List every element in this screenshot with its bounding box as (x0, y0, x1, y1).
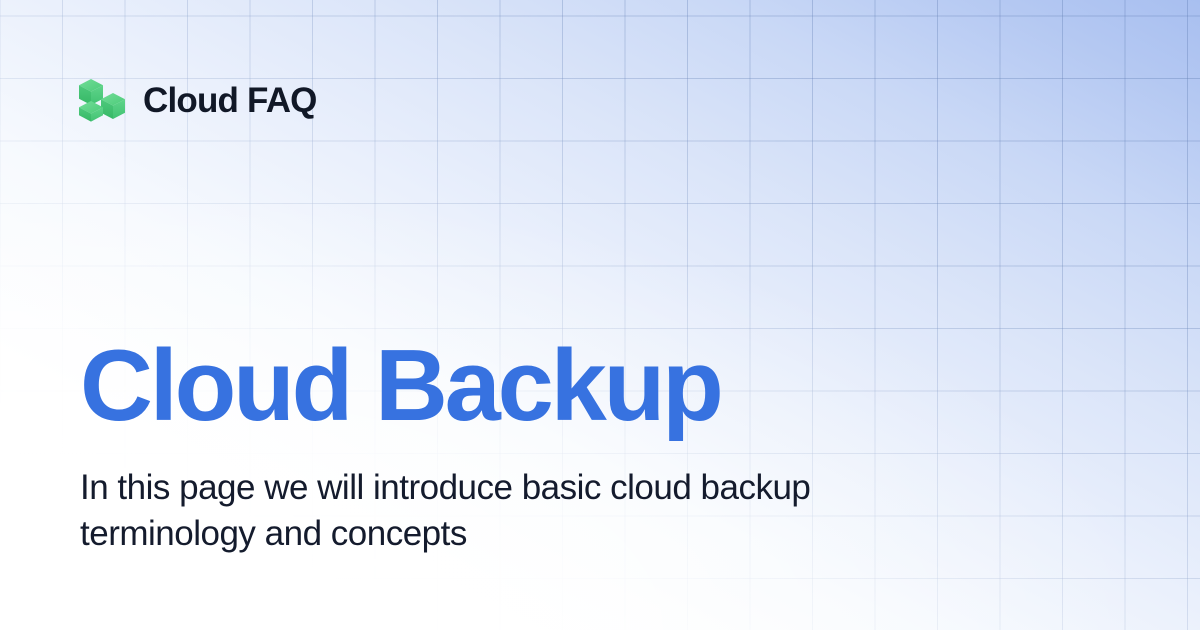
isometric-cubes-icon (78, 76, 126, 124)
headline-block: Cloud Backup In this page we will introd… (80, 336, 940, 557)
brand-header: Cloud FAQ (78, 76, 317, 124)
brand-name: Cloud FAQ (143, 83, 317, 118)
og-card: Cloud FAQ Cloud Backup In this page we w… (0, 0, 1200, 630)
page-title: Cloud Backup (80, 336, 940, 437)
page-subtitle: In this page we will introduce basic clo… (80, 465, 820, 557)
